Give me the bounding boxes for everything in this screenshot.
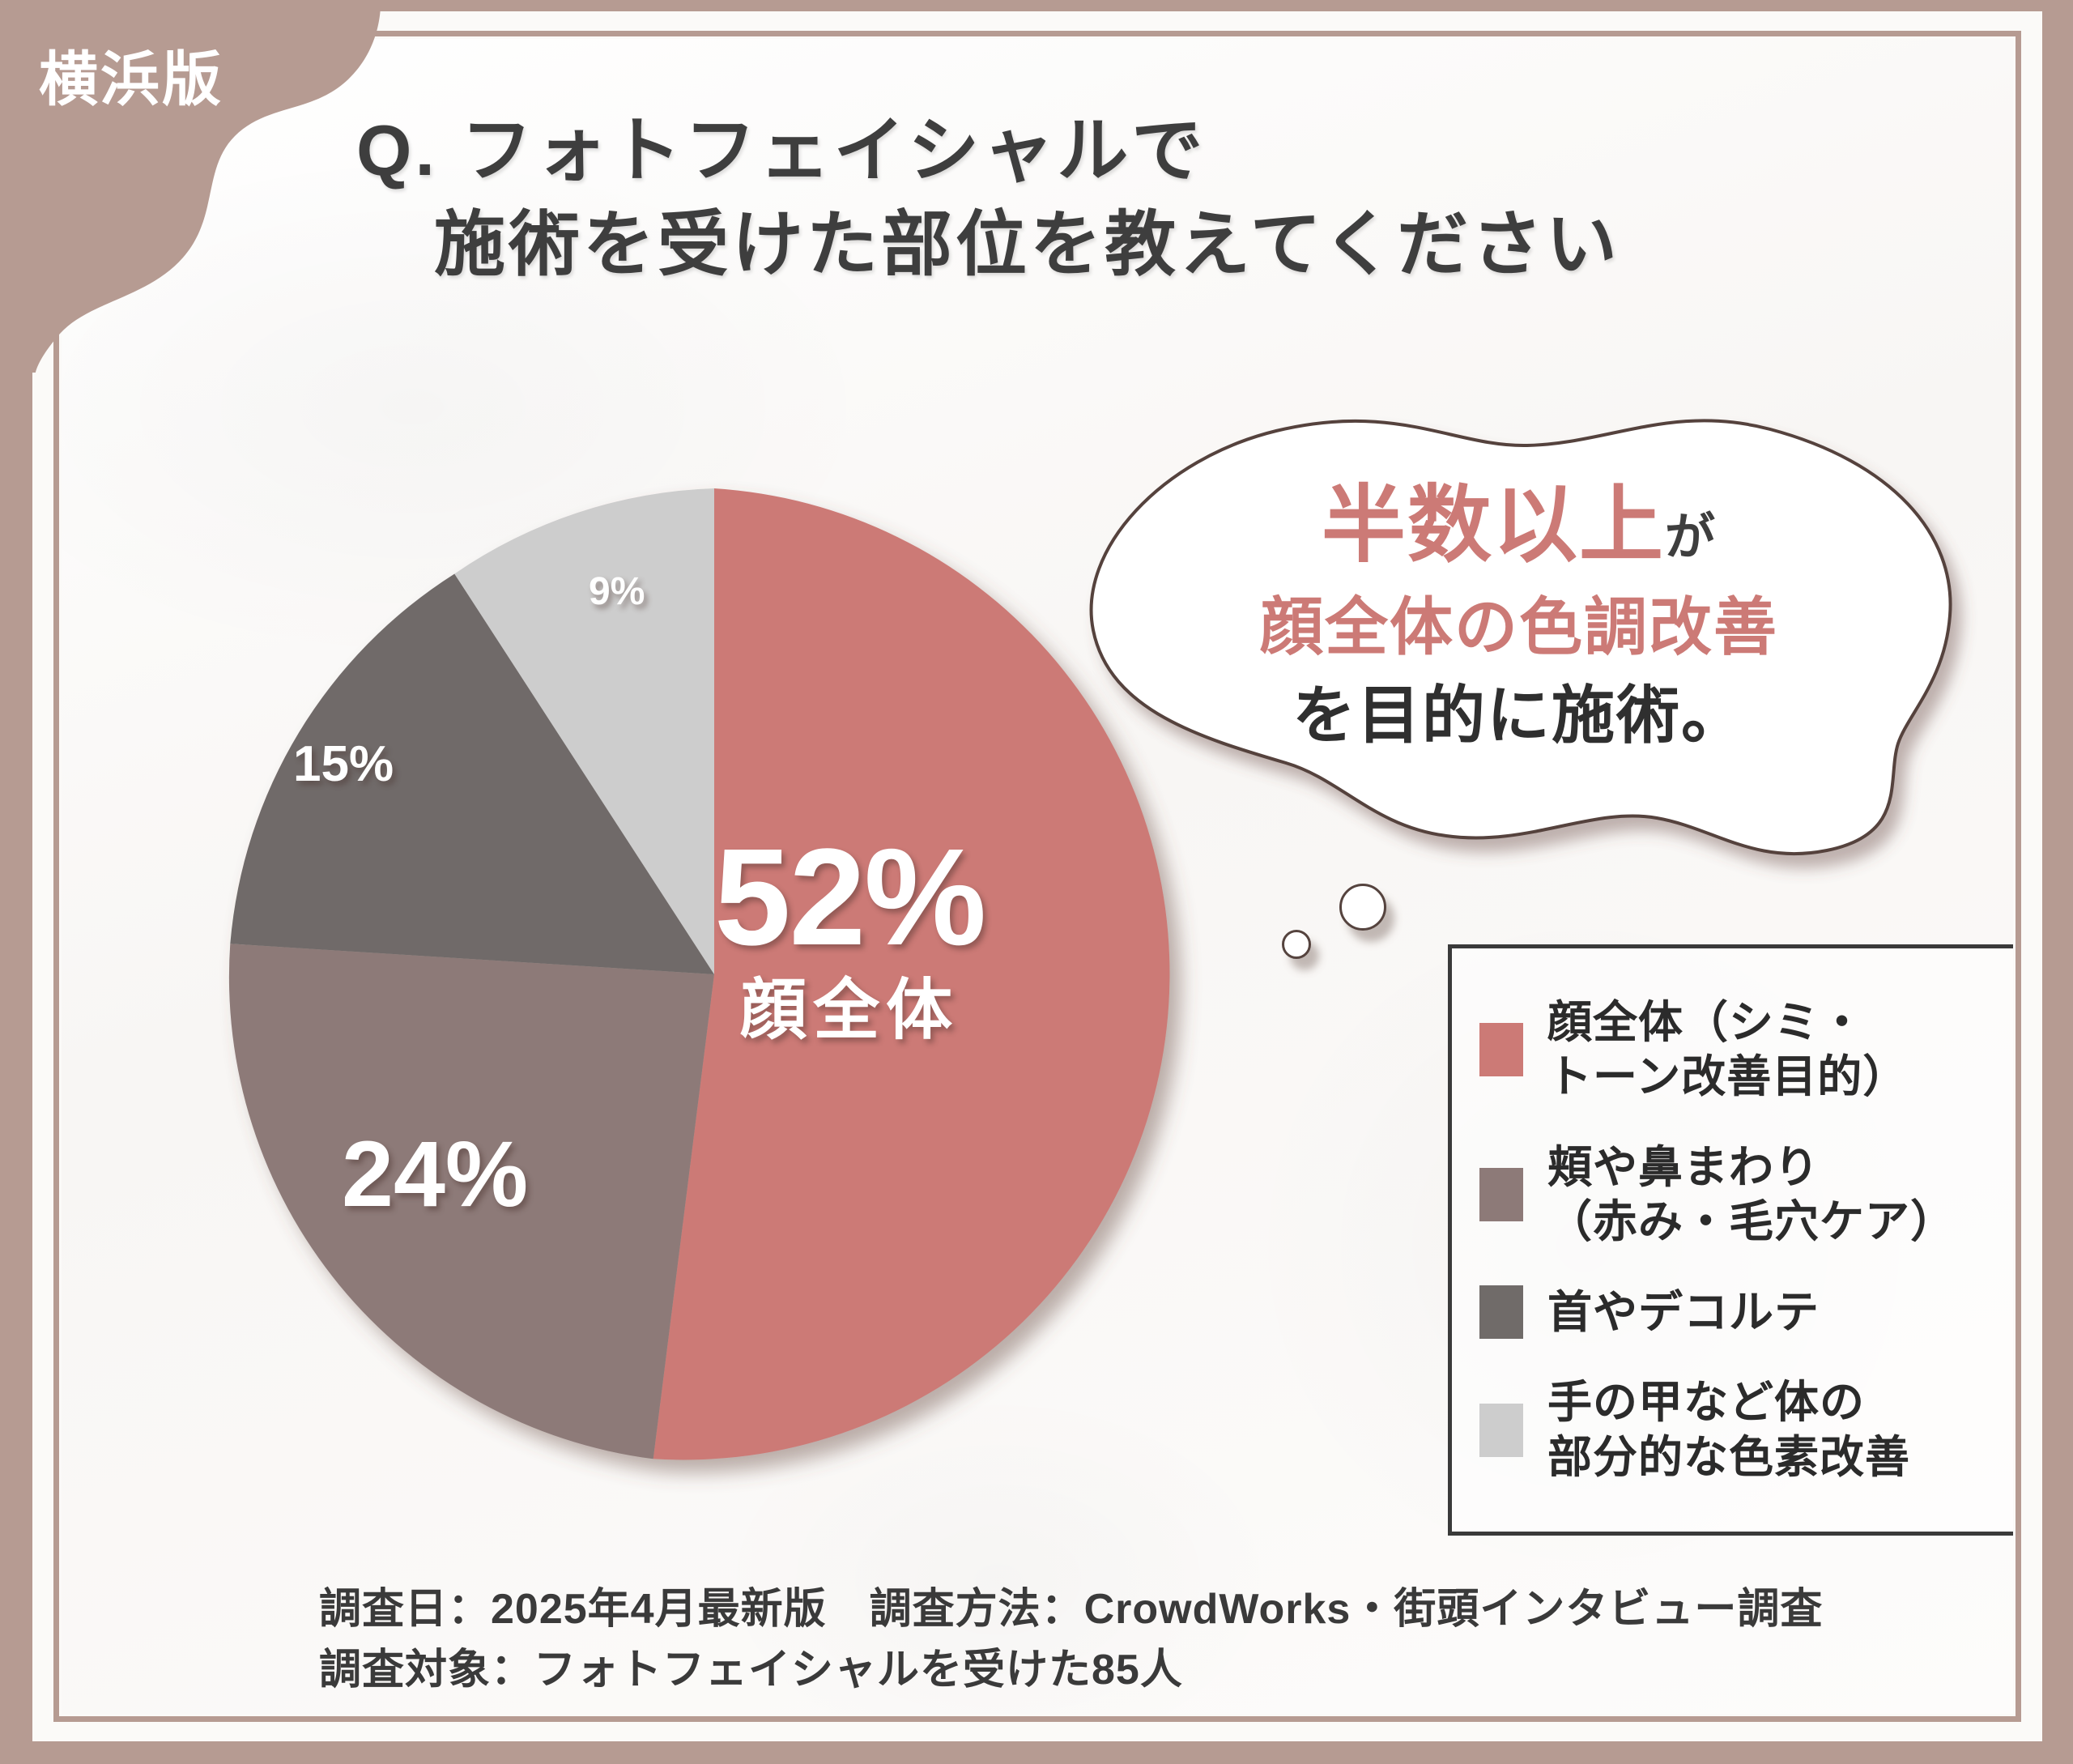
legend-label-face-whole: 顔全体（シミ・ トーン改善目的） <box>1547 995 1908 1104</box>
legend-swatch-face-whole <box>1479 1023 1523 1076</box>
survey-target: 調査対象：フォトフェイシャルを受けた85人 <box>319 1640 1939 1701</box>
infographic-root: 52% 顔全体 24% 15% 9% 半数以上が 顔全体の色調改善 <box>0 0 2073 1764</box>
legend-label-face-whole-line1: 顔全体（シミ・ <box>1547 995 1908 1050</box>
pie-slices <box>229 488 1170 1459</box>
legend-label-body-spots: 手の甲など体の 部分的な色素改善 <box>1547 1375 1910 1484</box>
chart-legend: 顔全体（シミ・ トーン改善目的） 頬や鼻まわり （赤み・毛穴ケア） 首やデコルテ <box>1448 944 2013 1536</box>
legend-swatch-body-spots <box>1479 1404 1523 1457</box>
legend-label-neck-decollete: 首やデコルテ <box>1547 1285 1820 1340</box>
legend-label-body-spots-line1: 手の甲など体の <box>1547 1375 1910 1430</box>
legend-label-face-whole-line2: トーン改善目的） <box>1547 1050 1908 1104</box>
bubble-tail-dot-small <box>1282 930 1311 959</box>
legend-label-cheek-nose-line2: （赤み・毛穴ケア） <box>1547 1195 1956 1249</box>
survey-footnote: 調査日：2025年4月最新版 調査方法：CrowdWorks・街頭インタビュー調… <box>319 1579 1939 1702</box>
speech-bubble-shape <box>1092 420 1951 854</box>
bubble-tail-dot-large <box>1339 884 1386 931</box>
highlight-speech-bubble: 半数以上が 顔全体の色調改善 を目的に施術。 <box>1074 413 1964 867</box>
speech-bubble-svg <box>1074 413 1964 867</box>
legend-item-cheek-nose: 頬や鼻まわり （赤み・毛穴ケア） <box>1479 1140 2004 1249</box>
legend-item-body-spots: 手の甲など体の 部分的な色素改善 <box>1479 1375 2004 1484</box>
legend-swatch-neck-decollete <box>1479 1285 1523 1339</box>
legend-item-face-whole: 顔全体（シミ・ トーン改善目的） <box>1479 995 2004 1104</box>
page-title-line-1: Q. フォトフェイシャルで <box>356 104 1895 198</box>
legend-item-neck-decollete: 首やデコルテ <box>1479 1285 2004 1340</box>
pie-chart-svg <box>220 480 1208 1468</box>
legend-label-cheek-nose-line1: 頬や鼻まわり <box>1547 1140 1956 1195</box>
region-badge-label: 横浜版 <box>39 50 223 109</box>
page-title: Q. フォトフェイシャルで 施術を受けた部位を教えてください <box>356 104 1895 292</box>
legend-swatch-cheek-nose <box>1479 1168 1523 1221</box>
legend-label-cheek-nose: 頬や鼻まわり （赤み・毛穴ケア） <box>1547 1140 1956 1249</box>
region-badge: 横浜版 <box>0 0 421 373</box>
pie-chart: 52% 顔全体 24% 15% 9% <box>220 480 1208 1468</box>
survey-date-method: 調査日：2025年4月最新版 調査方法：CrowdWorks・街頭インタビュー調… <box>319 1579 1939 1640</box>
pie-slice-cheek-nose <box>229 944 714 1459</box>
page-title-line-2: 施術を受けた部位を教えてください <box>356 198 1895 292</box>
legend-label-neck-decollete-line1: 首やデコルテ <box>1547 1285 1820 1340</box>
legend-label-body-spots-line2: 部分的な色素改善 <box>1547 1430 1910 1485</box>
